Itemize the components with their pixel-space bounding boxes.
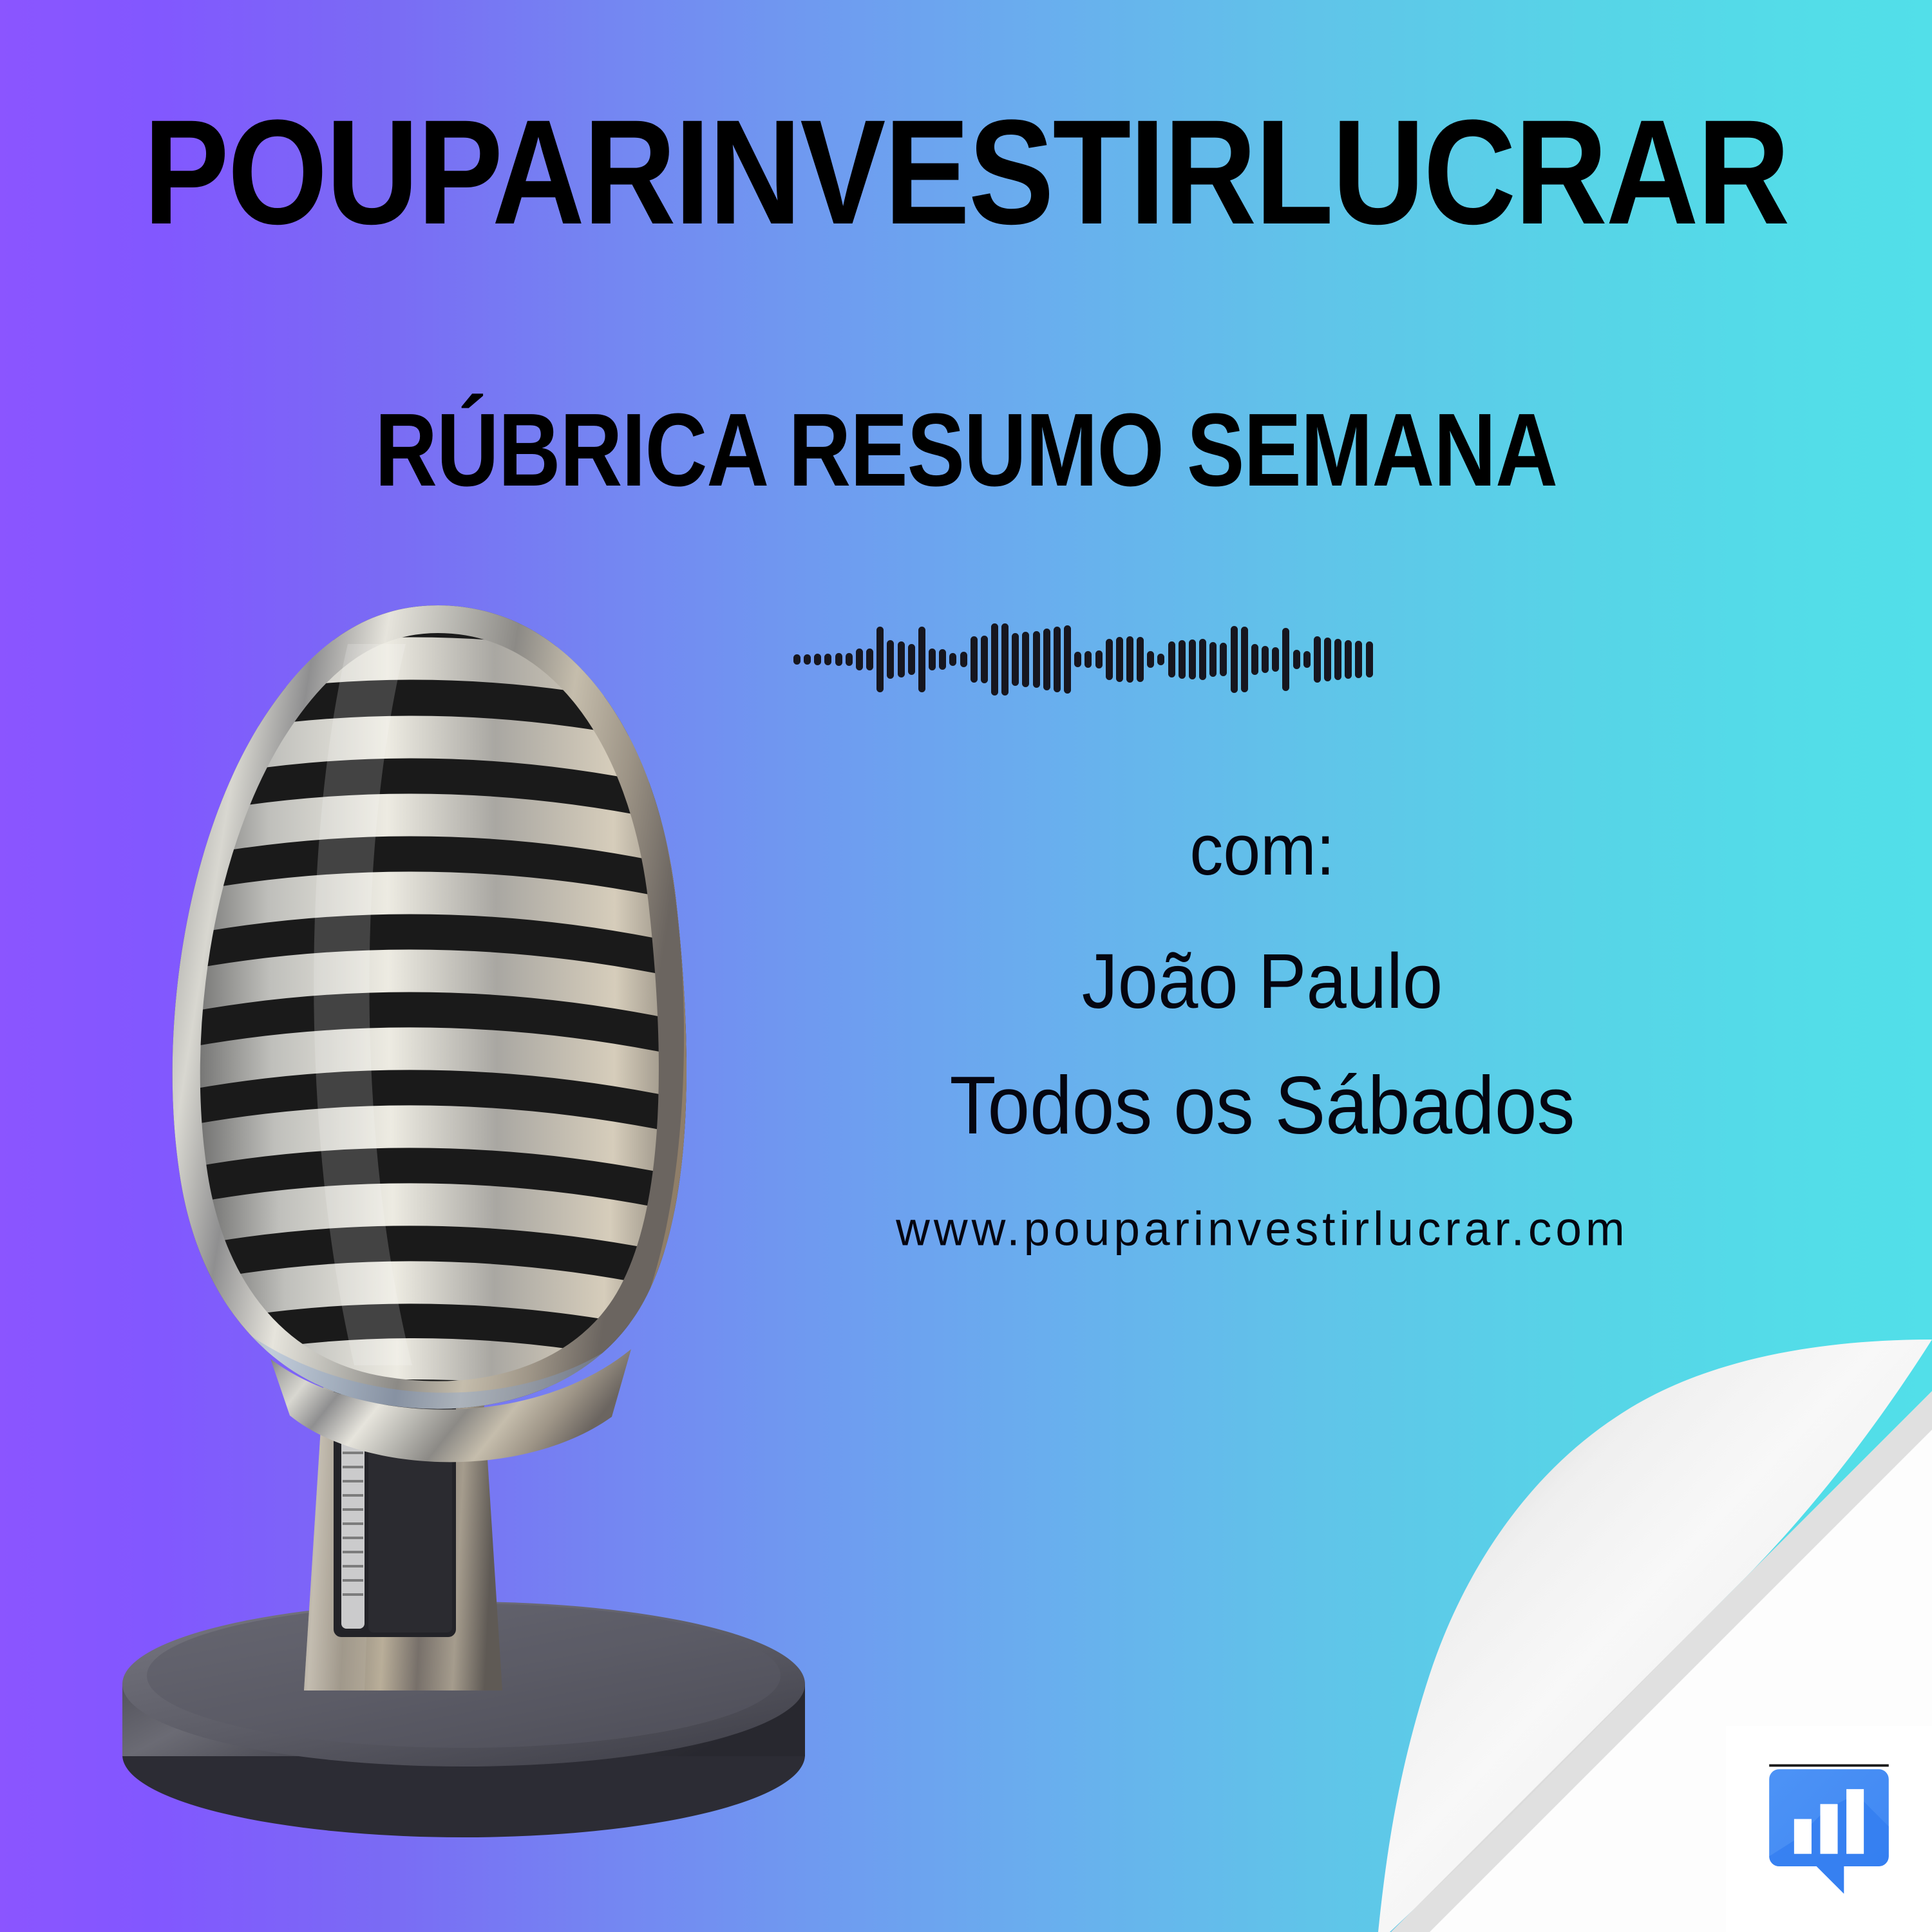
podcast-cover-poster: POUPARINVESTIRLUCRAR RÚBRICA RESUMO SEMA…: [0, 0, 1932, 1932]
poster-subtitle: RÚBRICA RESUMO SEMANA: [0, 398, 1932, 502]
waveform-bar: [1209, 642, 1217, 676]
waveform-bar: [1001, 623, 1009, 695]
waveform-bar: [856, 649, 863, 671]
waveform-bar: [846, 653, 853, 667]
waveform-bar: [1116, 637, 1123, 682]
waveform-bar: [908, 644, 915, 676]
waveform-bar: [1022, 632, 1029, 687]
waveform-bar: [918, 627, 925, 692]
waveform-bar: [1106, 639, 1113, 681]
waveform-bar: [814, 654, 821, 665]
waveform-bar: [1054, 627, 1061, 692]
schedule-text: Todos os Sábados: [741, 1065, 1784, 1146]
waveform-bar: [1064, 625, 1071, 694]
mic-yoke: [290, 1123, 519, 1314]
waveform-bar: [1084, 651, 1092, 668]
waveform-bar: [1303, 651, 1311, 668]
waveform-bar: [898, 641, 905, 677]
waveform-bar: [1262, 646, 1269, 673]
waveform-bar: [929, 649, 936, 671]
speech-bubble-bar-chart-icon: [1754, 1754, 1904, 1904]
waveform-bar: [1189, 639, 1196, 680]
waveform-bar: [1043, 629, 1050, 690]
mic-head: [167, 599, 715, 1462]
waveform-bar: [1345, 640, 1352, 679]
waveform-bar: [1095, 650, 1103, 668]
waveform-bar: [835, 653, 842, 666]
poster-title: POUPARINVESTIRLUCRAR: [0, 98, 1932, 247]
waveform-bar: [1012, 633, 1019, 685]
waveform-bar: [1220, 643, 1227, 676]
waveform-bar: [1251, 644, 1258, 676]
waveform-bar: [824, 654, 831, 666]
waveform-bar: [866, 649, 873, 671]
waveform-bar: [991, 623, 998, 695]
mic-base: [122, 1602, 805, 1837]
waveform-bar: [1199, 639, 1206, 681]
waveform-bar: [939, 649, 946, 670]
waveform-bar: [793, 654, 800, 665]
credits-block: com: João Paulo Todos os Sábados www.pou…: [741, 817, 1784, 1253]
waveform-bar: [887, 640, 894, 679]
waveform-bar: [1231, 626, 1238, 693]
waveform-bar: [1179, 640, 1186, 679]
waveform-bar: [1147, 651, 1154, 668]
waveform-bar: [1241, 627, 1248, 692]
website-url[interactable]: www.pouparinvestirlucrar.com: [741, 1205, 1784, 1253]
waveform-bar: [981, 636, 988, 683]
waveform-bar: [1168, 641, 1175, 677]
waveform-bar: [1074, 652, 1081, 667]
hex-bolt-icon: [434, 1195, 493, 1261]
waveform-bar: [1272, 647, 1279, 671]
waveform-bar: [1355, 641, 1362, 678]
mic-stand: [304, 1288, 502, 1690]
with-label: com:: [741, 814, 1784, 886]
waveform-bar: [1314, 636, 1321, 683]
waveform-bar: [1293, 650, 1300, 669]
waveform-bar: [1126, 636, 1133, 683]
waveform-bar: [949, 653, 956, 667]
brand-logo[interactable]: [1726, 1726, 1932, 1932]
waveform-bar: [1137, 637, 1144, 682]
waveform-bar: [1157, 654, 1164, 666]
waveform-bar: [1366, 641, 1373, 677]
audio-waveform-icon: [793, 622, 1373, 697]
waveform-bar: [971, 636, 978, 683]
host-name: João Paulo: [741, 943, 1784, 1021]
waveform-bar: [960, 652, 967, 667]
waveform-bar: [804, 654, 811, 665]
waveform-bar: [1033, 631, 1040, 688]
waveform-bar: [876, 627, 884, 692]
waveform-bar: [1282, 628, 1289, 690]
waveform-bar: [1334, 639, 1341, 681]
waveform-bar: [1324, 638, 1331, 681]
